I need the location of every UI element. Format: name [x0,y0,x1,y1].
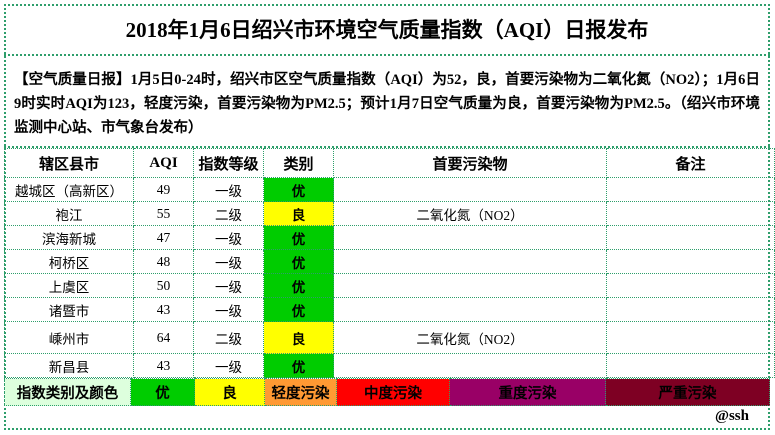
cell-aqi: 64 [134,322,194,354]
header-level: 指数等级 [194,149,264,178]
cell-category: 良 [264,202,334,226]
legend-item-light-pollution: 轻度污染 [265,379,337,406]
cell-pollutant [334,274,607,298]
cell-region: 袍江 [5,202,134,226]
cell-aqi: 47 [134,226,194,250]
header-pollutant: 首要污染物 [334,149,607,178]
legend-item-moderate-pollution: 中度污染 [337,379,450,406]
table-row: 诸暨市43一级优 [5,298,775,322]
cell-pollutant: 二氧化氮（NO2） [334,202,607,226]
cell-pollutant [334,250,607,274]
cell-region: 滨海新城 [5,226,134,250]
table-row: 嵊州市64二级良二氧化氮（NO2） [5,322,775,354]
summary-paragraph: 【空气质量日报】1月5日0-24时，绍兴市区空气质量指数（AQI）为52，良，首… [14,68,760,140]
cell-level: 一级 [194,274,264,298]
table-row: 新昌县43一级优 [5,354,775,378]
cell-pollutant [334,354,607,378]
legend-item-liang: 良 [195,379,265,406]
summary-band: 【空气质量日报】1月5日0-24时，绍兴市区空气质量指数（AQI）为52，良，首… [4,56,770,148]
cell-pollutant [334,178,607,202]
cell-aqi: 55 [134,202,194,226]
legend-table: 指数类别及颜色 优 良 轻度污染 中度污染 重度污染 严重污染 [4,378,770,406]
cell-region: 嵊州市 [5,322,134,354]
aqi-daily-report-page: 2018年1月6日绍兴市环境空气质量指数（AQI）日报发布 【空气质量日报】1月… [0,0,775,435]
cell-note [607,178,775,202]
header-region: 辖区县市 [5,149,134,178]
cell-region: 柯桥区 [5,250,134,274]
cell-note [607,202,775,226]
cell-region: 上虞区 [5,274,134,298]
cell-aqi: 49 [134,178,194,202]
cell-note [607,250,775,274]
cell-aqi: 50 [134,274,194,298]
cell-level: 一级 [194,354,264,378]
cell-aqi: 43 [134,354,194,378]
cell-level: 一级 [194,226,264,250]
cell-pollutant: 二氧化氮（NO2） [334,322,607,354]
header-note: 备注 [607,149,775,178]
cell-level: 一级 [194,178,264,202]
table-header-row: 辖区县市 AQI 指数等级 类别 首要污染物 备注 [5,149,775,178]
page-title: 2018年1月6日绍兴市环境空气质量指数（AQI）日报发布 [126,14,649,44]
cell-region: 新昌县 [5,354,134,378]
cell-note [607,322,775,354]
cell-category: 优 [264,226,334,250]
cell-region: 越城区（高新区） [5,178,134,202]
table-row: 滨海新城47一级优 [5,226,775,250]
table-body: 越城区（高新区）49一级优袍江55二级良二氧化氮（NO2）滨海新城47一级优柯桥… [5,178,775,378]
cell-pollutant [334,226,607,250]
legend-item-heavy-pollution: 重度污染 [450,379,606,406]
header-aqi: AQI [134,149,194,178]
title-band: 2018年1月6日绍兴市环境空气质量指数（AQI）日报发布 [4,4,770,56]
cell-aqi: 48 [134,250,194,274]
legend-item-severe-pollution: 严重污染 [606,379,770,406]
cell-level: 一级 [194,250,264,274]
cell-note [607,274,775,298]
cell-category: 优 [264,274,334,298]
legend-label: 指数类别及颜色 [5,379,131,406]
cell-pollutant [334,298,607,322]
header-category: 类别 [264,149,334,178]
aqi-table: 辖区县市 AQI 指数等级 类别 首要污染物 备注 越城区（高新区）49一级优袍… [4,148,775,378]
cell-aqi: 43 [134,298,194,322]
cell-level: 一级 [194,298,264,322]
cell-category: 良 [264,322,334,354]
cell-note [607,226,775,250]
cell-category: 优 [264,250,334,274]
cell-category: 优 [264,298,334,322]
cell-level: 二级 [194,322,264,354]
table-row: 越城区（高新区）49一级优 [5,178,775,202]
watermark: @ssh [715,408,749,425]
cell-note [607,354,775,378]
table-row: 袍江55二级良二氧化氮（NO2） [5,202,775,226]
legend-item-you: 优 [131,379,195,406]
cell-region: 诸暨市 [5,298,134,322]
legend-row: 指数类别及颜色 优 良 轻度污染 中度污染 重度污染 严重污染 [5,379,770,406]
table-row: 柯桥区48一级优 [5,250,775,274]
cell-category: 优 [264,354,334,378]
cell-category: 优 [264,178,334,202]
cell-note [607,298,775,322]
cell-level: 二级 [194,202,264,226]
table-row: 上虞区50一级优 [5,274,775,298]
